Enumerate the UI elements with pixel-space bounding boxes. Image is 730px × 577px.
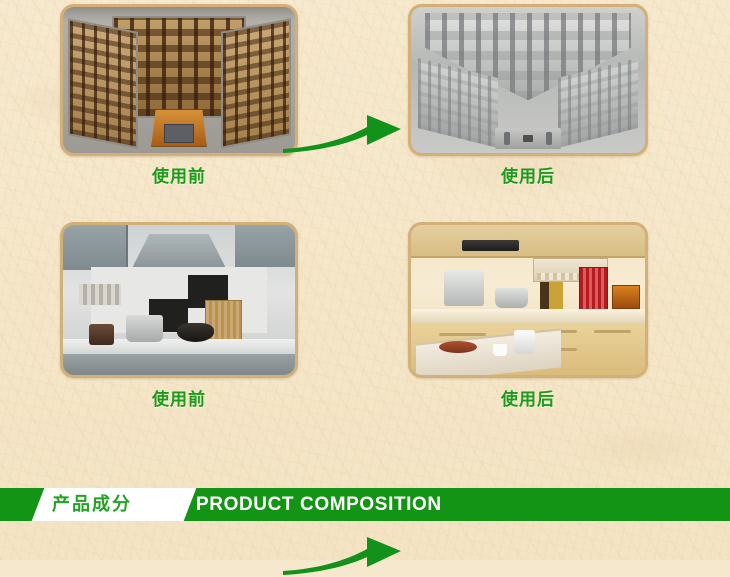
upper-cabinet-left	[63, 225, 128, 270]
image-range-hood-dirty	[63, 7, 295, 153]
banner-title-cn: 产品成分	[52, 488, 132, 521]
kettle	[514, 330, 535, 354]
steel-pot	[126, 315, 163, 342]
wok	[177, 323, 214, 343]
spice-shelf	[79, 284, 121, 305]
comparison-row-2: 使用前	[0, 205, 730, 405]
large-stockpot	[444, 270, 484, 306]
comparison-row-1: 使用前 使用后	[0, 0, 730, 196]
hood-control-strip	[495, 128, 561, 148]
filter-panel-right	[221, 18, 291, 148]
image-kitchen-after	[411, 225, 645, 375]
upper-cabinets	[411, 225, 645, 258]
image-kitchen-before	[63, 225, 295, 375]
section-banner: 产品成分 PRODUCT COMPOSITION	[0, 488, 730, 521]
slim-range-hood	[462, 240, 518, 251]
caption-before-1: 使用前	[57, 162, 301, 187]
small-saucepan	[495, 288, 528, 308]
banner-title-en: PRODUCT COMPOSITION	[196, 488, 442, 521]
cabinet-handle	[439, 333, 486, 336]
photo-after-kitchen	[408, 222, 648, 378]
upper-cabinet-right	[235, 225, 295, 267]
arrow-icon-row-1	[283, 99, 405, 155]
oil-bottles	[540, 282, 563, 309]
photo-after-filter	[408, 4, 648, 156]
base-cabinets	[63, 354, 295, 375]
red-appliance	[579, 267, 607, 312]
caption-after-1: 使用后	[406, 162, 650, 187]
tea-cup	[493, 344, 507, 356]
photo-before-kitchen	[60, 222, 298, 378]
clay-pot	[89, 324, 115, 345]
fruit-plate	[439, 341, 476, 353]
photo-before-filter	[60, 4, 298, 156]
cabinet-handle	[594, 330, 631, 333]
page-background: 使用前 使用后	[0, 0, 730, 560]
countertop	[411, 309, 645, 323]
snack-box	[612, 285, 640, 309]
caption-before-2: 使用前	[57, 385, 301, 410]
range-hood	[133, 234, 226, 267]
right-arrow-icon	[283, 521, 405, 577]
right-arrow-icon	[283, 99, 405, 155]
filter-panel-left	[68, 18, 138, 148]
caption-after-2: 使用后	[406, 385, 650, 410]
oil-cup	[151, 109, 207, 147]
arrow-icon-row-2	[283, 521, 405, 577]
image-range-hood-clean	[411, 7, 645, 153]
